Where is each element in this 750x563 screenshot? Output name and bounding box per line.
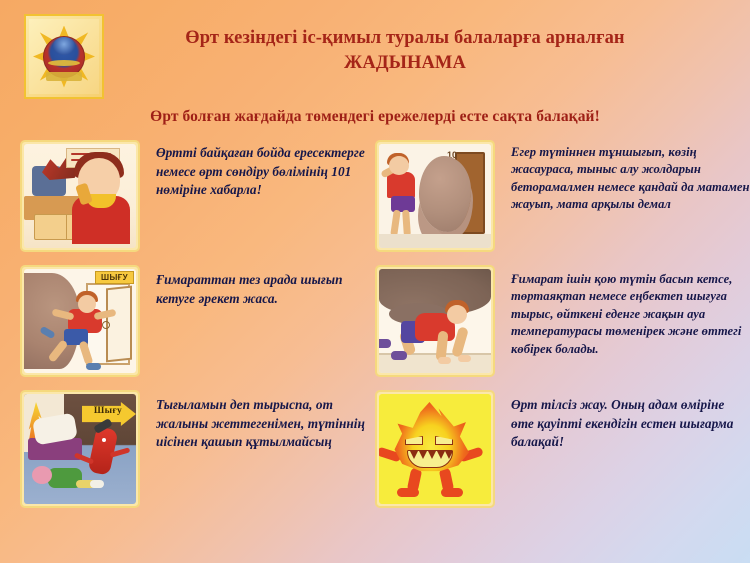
fire-extinguisher-mascot-pointing-to-exit-illustration: Шығу [20, 390, 140, 508]
crawler-hand-shape [458, 355, 471, 362]
child-head-shape [32, 466, 52, 484]
mascot-eye-shape [102, 438, 106, 442]
tips-row: Өртті байқаған бойда ересектерге немесе … [0, 140, 750, 265]
monster-foot-shape [441, 488, 463, 497]
tip-text: Ғимарат ішін қою түтін басып кетсе, төрт… [495, 265, 750, 358]
angry-flame-monster-illustration [375, 390, 495, 508]
door-knob-icon [102, 321, 110, 329]
smoke-layer-shape [379, 269, 491, 315]
title-line-2: ЖАДЫНАМА [105, 51, 705, 76]
runner-shoe-shape [86, 363, 101, 370]
tip-text: Өрт тілсіз жау. Оның адам өміріне өте қа… [495, 390, 750, 452]
emblem-band-icon [46, 72, 82, 81]
crawler-hand-shape [438, 357, 451, 364]
tips-row: Шығу Тығыламын деп тырыспа, от жалыны же… [0, 390, 750, 525]
title-line-1: Өрт кезіндегі іс-қимыл туралы балаларға … [105, 26, 705, 51]
person-shirt-shape [387, 172, 415, 198]
emblem-wings-icon [48, 60, 80, 66]
tip-text: Егер түтіннен тұншығып, көзің жасаураса,… [495, 140, 750, 214]
emblem-inner [29, 19, 99, 94]
tip-text: Өртті байқаған бойда ересектерге немесе … [140, 140, 370, 200]
tip-text: Ғимараттан тез арада шығып кетуге әрекет… [140, 265, 370, 308]
exit-sign-label: Шығу [94, 406, 122, 416]
person-covering-face-from-smoke-illustration: 10 8 [375, 140, 495, 252]
tips-row: ШЫҒУ Ғимараттан тез арада шығып кетуге ә… [0, 265, 750, 390]
emergency-services-emblem [24, 14, 104, 99]
runner-head-shape [78, 295, 96, 313]
crawler-shoe-shape [391, 351, 407, 360]
page-title: Өрт кезіндегі іс-қимыл туралы балаларға … [105, 26, 705, 76]
person-crawling-under-smoke-illustration [375, 265, 495, 377]
exit-sign-label: ШЫҒУ [95, 271, 134, 284]
page-subtitle: Өрт болған жағдайда төмендегі ережелерді… [25, 108, 725, 126]
monster-foot-shape [397, 488, 419, 497]
child-shoe-shape [90, 480, 104, 488]
boy-calling-fire-department-illustration [20, 140, 140, 252]
tip-crawl-low: Ғимарат ішін қою түтін басып кетсе, төрт… [370, 265, 750, 390]
fire-safety-poster: Өрт кезіндегі іс-қимыл туралы балаларға … [0, 0, 750, 563]
tip-cover-airways: 10 8 Егер түтінне [370, 140, 750, 265]
person-running-out-exit-door-illustration: ШЫҒУ [20, 265, 140, 377]
smoke-cloud-shape [419, 156, 471, 232]
tip-fire-is-enemy: Өрт тілсіз жау. Оның адам өміріне өте қа… [370, 390, 750, 525]
tips-grid: Өртті байқаған бойда ересектерге немесе … [0, 140, 750, 525]
tip-text: Тығыламын деп тырыспа, от жалыны жеттеге… [140, 390, 370, 452]
emblem-core-icon [53, 37, 75, 55]
floor-shape [379, 234, 491, 248]
tip-exit-building: ШЫҒУ Ғимараттан тез арада шығып кетуге ә… [0, 265, 370, 390]
person-head-shape [389, 156, 409, 175]
tip-call-101: Өртті байқаған бойда ересектерге немесе … [0, 140, 370, 265]
crawler-shoe-shape [379, 339, 391, 348]
tip-do-not-hide: Шығу Тығыламын деп тырыспа, от жалыны же… [0, 390, 370, 525]
crawler-head-shape [447, 305, 467, 324]
